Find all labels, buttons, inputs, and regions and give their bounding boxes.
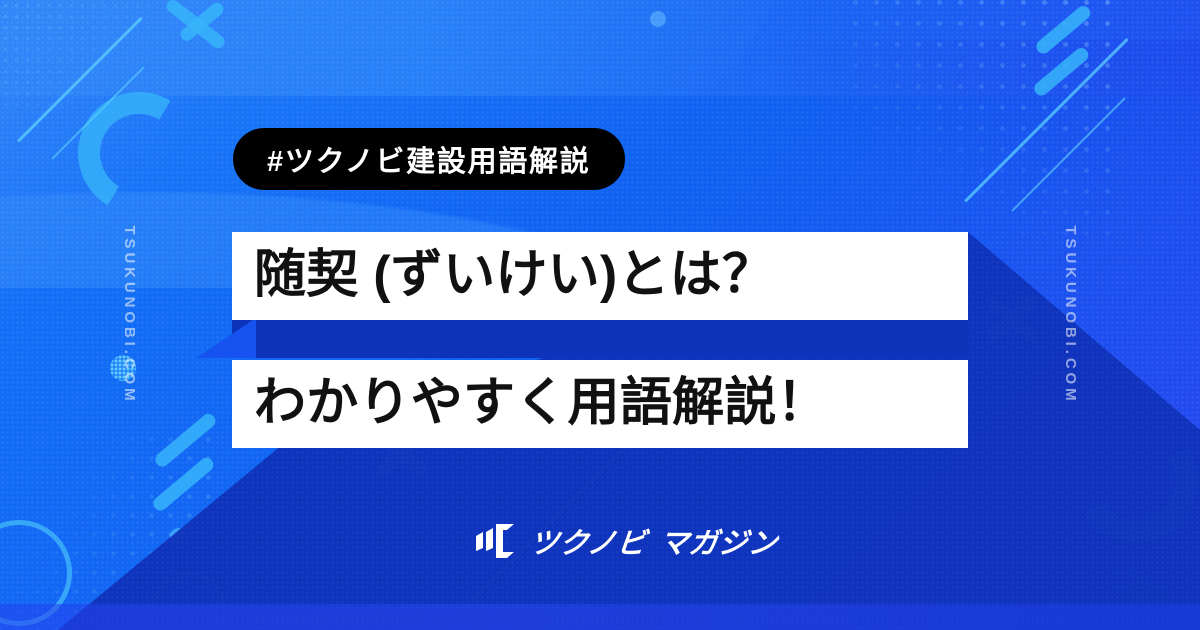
watermark-right: TSUKUNOBI.COM bbox=[1062, 225, 1079, 404]
top-band bbox=[0, 0, 1200, 96]
og-image-canvas: #ツクノビ建設用語解説 随契 (ずいけい)とは？ わかりやすく用語解説！ ツクノ… bbox=[0, 0, 1200, 630]
brand-logo[interactable]: ツクノビマガジン bbox=[474, 521, 778, 561]
dash-bottom-left-1 bbox=[153, 411, 219, 469]
arc-icon-top-left bbox=[65, 79, 213, 227]
dash-top-right-1 bbox=[1034, 3, 1094, 56]
bottom-band bbox=[0, 604, 1200, 630]
page-title-line-2: わかりやすく用語解説！ bbox=[232, 360, 968, 448]
watermark-left: TSUKUNOBI.COM bbox=[121, 225, 138, 404]
brand-logo-text: ツクノビマガジン bbox=[528, 520, 780, 562]
dot-grid-top-right bbox=[845, 0, 1115, 242]
diagonal-line-1 bbox=[17, 17, 143, 143]
circle-dot-5 bbox=[650, 11, 666, 27]
dash-bottom-left-2 bbox=[151, 455, 217, 513]
brand-logo-text-part1: ツクノビ bbox=[528, 528, 648, 560]
category-tag-label: #ツクノビ建設用語解説 bbox=[267, 138, 591, 180]
diagonal-line-2 bbox=[51, 66, 144, 159]
diagonal-line-4 bbox=[1011, 97, 1126, 212]
diagonal-line-3 bbox=[964, 38, 1129, 203]
lightning-bolt-icon-top-left bbox=[168, 0, 258, 56]
brand-logo-text-part2: マガジン bbox=[658, 528, 780, 560]
dash-top-right-2 bbox=[1032, 45, 1092, 98]
category-tag[interactable]: #ツクノビ建設用語解説 bbox=[233, 128, 625, 190]
tsukunobi-logo-mark-icon bbox=[474, 524, 518, 558]
page-title-line-1: 随契 (ずいけい)とは？ bbox=[232, 232, 968, 320]
page-title: 随契 (ずいけい)とは？ わかりやすく用語解説！ bbox=[232, 232, 968, 448]
dot-grid-top-left bbox=[0, 0, 150, 110]
